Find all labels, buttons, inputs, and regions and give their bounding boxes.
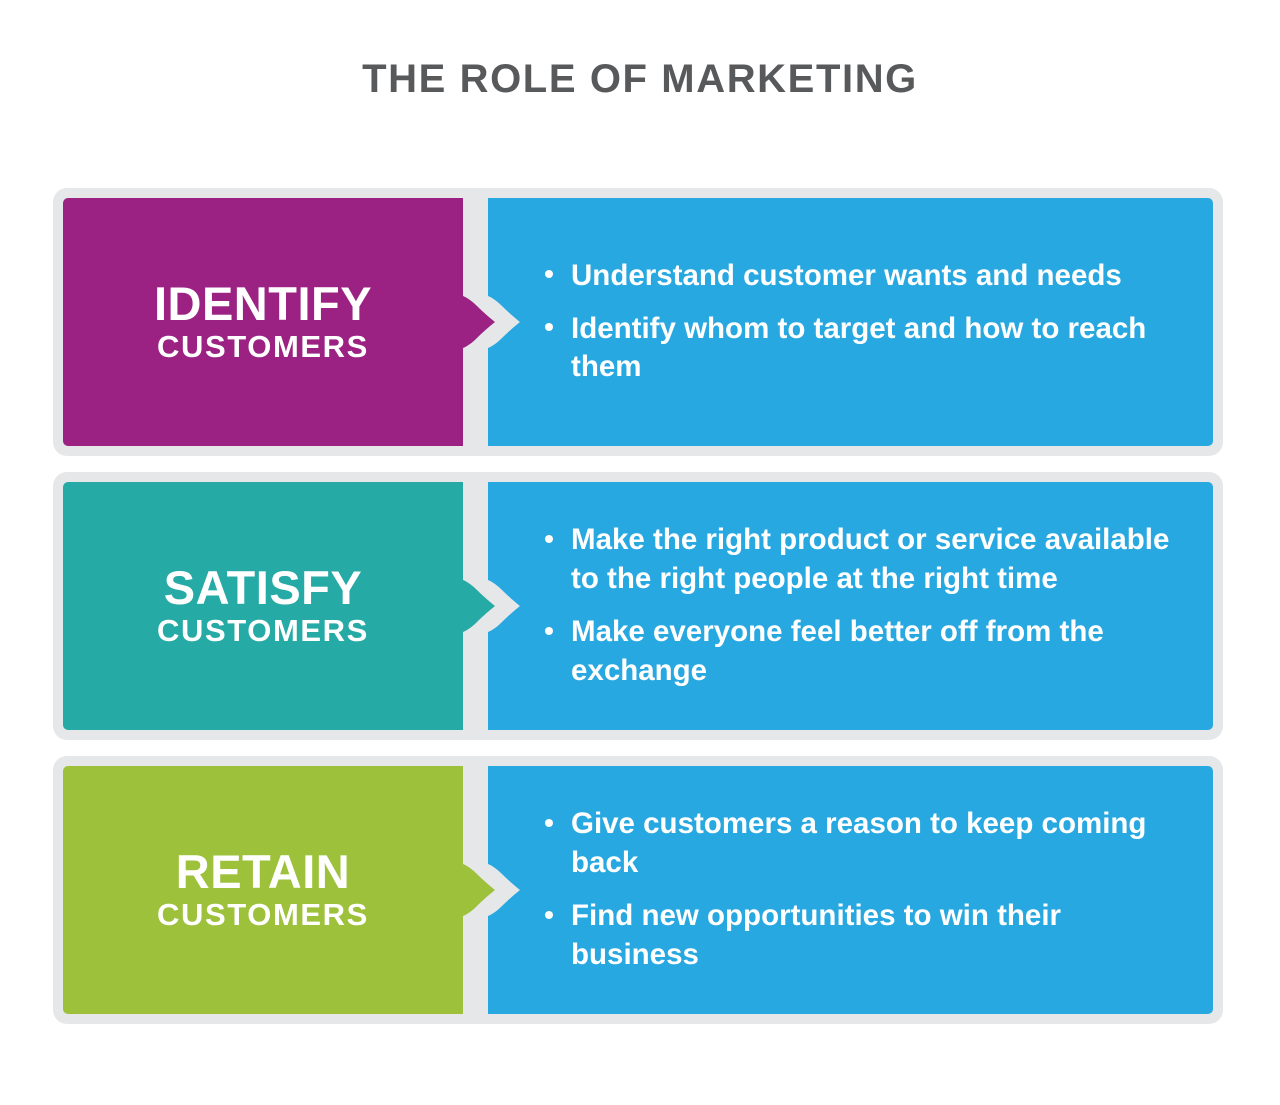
step-accent-shape <box>63 766 495 1014</box>
bullet-item: Find new opportunities to win their busi… <box>543 897 1195 975</box>
bullet-item: Understand customer wants and needs <box>543 257 1195 296</box>
bullet-item: Make the right product or service availa… <box>543 521 1195 599</box>
step-bullet-list: Understand customer wants and needs Iden… <box>488 198 1213 446</box>
bullet-item: Give customers a reason to keep coming b… <box>543 805 1195 883</box>
step-accent-shape <box>63 198 495 446</box>
bullet-text: Make the right product or service availa… <box>571 523 1169 595</box>
process-step-body: SATISFY CUSTOMERS Make the right product… <box>63 482 1213 730</box>
bullet-text: Make everyone feel better off from the e… <box>571 615 1104 687</box>
bullet-dot-icon <box>545 627 553 635</box>
bullet-text: Understand customer wants and needs <box>571 259 1122 292</box>
page-title: THE ROLE OF MARKETING <box>0 55 1280 103</box>
bullet-dot-icon <box>545 535 553 543</box>
process-steps-list: IDENTIFY CUSTOMERS Understand customer w… <box>53 188 1223 1024</box>
bullet-item: Identify whom to target and how to reach… <box>543 310 1195 388</box>
step-bullet-list: Give customers a reason to keep coming b… <box>488 766 1213 1014</box>
step-accent-shape <box>63 482 495 730</box>
process-step-row: SATISFY CUSTOMERS Make the right product… <box>53 472 1223 740</box>
process-step-row: IDENTIFY CUSTOMERS Understand customer w… <box>53 188 1223 456</box>
infographic-root: THE ROLE OF MARKETING IDENTIFY CUSTOMERS… <box>0 0 1280 1105</box>
process-step-body: RETAIN CUSTOMERS Give customers a reason… <box>63 766 1213 1014</box>
process-step-body: IDENTIFY CUSTOMERS Understand customer w… <box>63 198 1213 446</box>
bullet-text: Give customers a reason to keep coming b… <box>571 807 1146 879</box>
bullet-text: Identify whom to target and how to reach… <box>571 312 1146 384</box>
bullet-dot-icon <box>545 911 553 919</box>
bullet-dot-icon <box>545 270 553 278</box>
bullet-item: Make everyone feel better off from the e… <box>543 613 1195 691</box>
step-bullet-list: Make the right product or service availa… <box>488 482 1213 730</box>
bullet-text: Find new opportunities to win their busi… <box>571 899 1061 971</box>
process-step-row: RETAIN CUSTOMERS Give customers a reason… <box>53 756 1223 1024</box>
bullet-dot-icon <box>545 819 553 827</box>
bullet-dot-icon <box>545 323 553 331</box>
